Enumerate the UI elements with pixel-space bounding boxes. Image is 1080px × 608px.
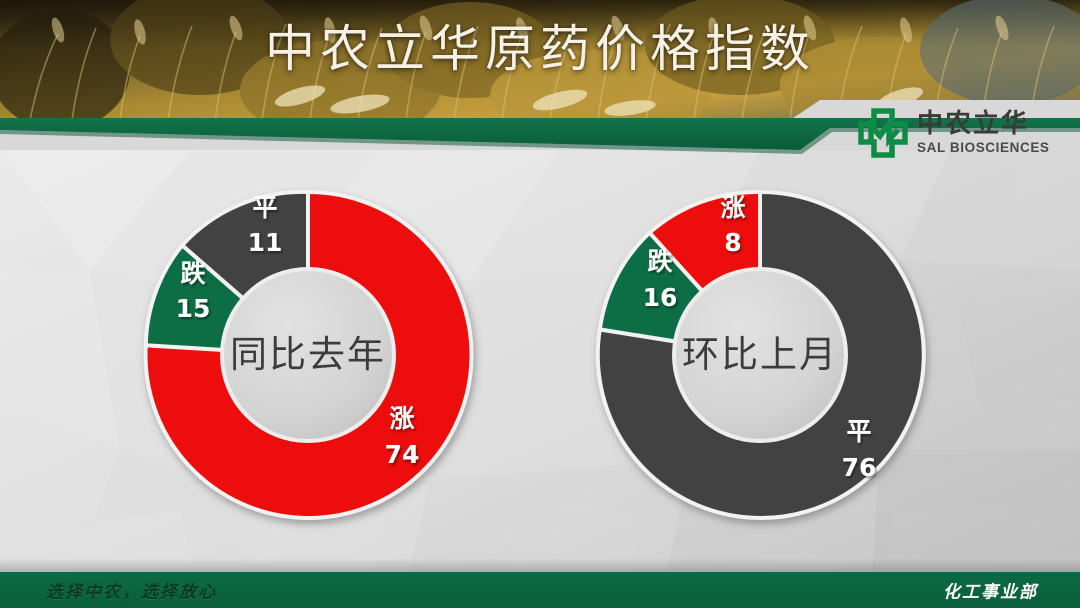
donut-label-mom-up: 涨 <box>720 193 745 222</box>
donut-center-label-mom: 环比上月 <box>682 333 838 376</box>
donut-value-yoy-flat: 11 <box>248 228 283 257</box>
footer-department: 化工事业部 <box>943 578 1038 603</box>
donut-label-yoy-down: 跌 <box>180 259 205 288</box>
brand-logo: 中农立华 SAL BIOSCIENCES <box>858 108 1050 158</box>
page-title: 中农立华原药价格指数 <box>0 22 1080 77</box>
donut-label-yoy-flat: 平 <box>252 193 277 222</box>
donut-value-mom-down: 16 <box>643 283 678 312</box>
donut-value-mom-flat: 76 <box>842 453 877 482</box>
donut-value-mom-up: 8 <box>724 228 741 257</box>
footer-bar: 选择中农，选择放心 化工事业部 <box>0 572 1080 608</box>
green-cross-logo-icon <box>858 108 908 158</box>
logo-chinese-name: 中农立华 <box>917 111 1050 137</box>
donut-charts-area: 同比去年 涨 74 跌 15 平 11 环比上月 平 76 涨 8 跌 16 <box>0 150 1080 570</box>
donut-label-mom-down: 跌 <box>647 247 672 276</box>
donut-label-mom-flat: 平 <box>846 417 871 446</box>
donut-label-yoy-up: 涨 <box>389 404 414 433</box>
logo-english-name: SAL BIOSCIENCES <box>917 141 1050 155</box>
header-photo-band: 中农立华原药价格指数 <box>0 0 1080 120</box>
footer-slogan: 选择中农，选择放心 <box>46 578 217 603</box>
donut-center-label-yoy: 同比去年 <box>230 333 386 376</box>
donut-value-yoy-down: 15 <box>176 294 211 323</box>
logo-text-block: 中农立华 SAL BIOSCIENCES <box>917 111 1050 155</box>
slide-root: 中农立华原药价格指数 中农立华 SAL BIOSCIENCES <box>0 0 1080 608</box>
donut-value-yoy-up: 74 <box>385 440 420 469</box>
